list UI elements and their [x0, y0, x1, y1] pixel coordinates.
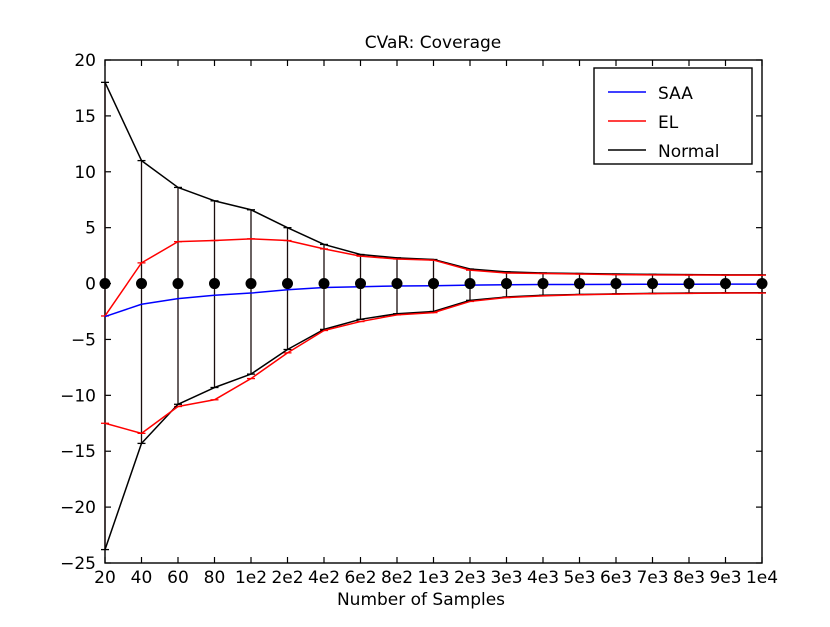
x-tick-label: 1e4 [746, 568, 778, 588]
x-tick-label: 7e3 [636, 568, 668, 588]
legend-label-saa: SAA [658, 84, 693, 104]
data-point-marker [720, 278, 731, 289]
y-tick-label: 5 [85, 219, 96, 239]
x-tick-label: 8e2 [381, 568, 413, 588]
y-tick-label: −5 [71, 330, 96, 350]
data-point-marker [355, 278, 366, 289]
normal-lower-curve [105, 293, 762, 550]
y-tick-label: 0 [85, 275, 96, 295]
x-tick-label: 60 [167, 568, 189, 588]
x-tick-label: 5e3 [563, 568, 595, 588]
x-tick-label: 1e2 [235, 568, 267, 588]
data-point-marker [428, 278, 439, 289]
x-axis-label: Number of Samples [337, 590, 505, 610]
data-point-marker [136, 278, 147, 289]
y-tick-label: −25 [60, 554, 96, 574]
x-tick-label: 4e2 [308, 568, 340, 588]
x-tick-label: 2e2 [271, 568, 303, 588]
data-point-marker [392, 278, 403, 289]
data-point-marker [282, 278, 293, 289]
y-tick-label: −10 [60, 386, 96, 406]
x-tick-label: 40 [131, 568, 153, 588]
x-tick-label: 2e3 [454, 568, 486, 588]
legend-label-el: EL [658, 113, 679, 133]
x-tick-label: 3e3 [490, 568, 522, 588]
x-tick-label: 20 [94, 568, 116, 588]
y-tick-label: 10 [74, 163, 96, 183]
x-tick-label: 6e3 [600, 568, 632, 588]
data-point-marker [246, 278, 257, 289]
y-tick-label: −15 [60, 442, 96, 462]
cvar-coverage-chart: CVaR: Coverage 20151050−5−10−15−20−25 20… [0, 0, 830, 627]
legend[interactable]: SAAELNormal [594, 68, 752, 164]
y-tick-label: 20 [74, 51, 96, 71]
data-point-marker [501, 278, 512, 289]
data-point-marker [647, 278, 658, 289]
data-point-marker [465, 278, 476, 289]
data-point-marker [757, 278, 768, 289]
figure-canvas: CVaR: Coverage 20151050−5−10−15−20−25 20… [0, 0, 830, 627]
x-tick-label: 6e2 [344, 568, 376, 588]
data-point-marker [209, 278, 220, 289]
y-tick-label: 15 [74, 107, 96, 127]
data-point-marker [538, 278, 549, 289]
data-point-marker [173, 278, 184, 289]
el-lower-curve [105, 293, 762, 433]
y-tick-label: −20 [60, 498, 96, 518]
data-point-marker [319, 278, 330, 289]
legend-label-normal: Normal [658, 142, 720, 162]
x-tick-label: 8e3 [673, 568, 705, 588]
data-point-marker [100, 278, 111, 289]
data-point-marker [684, 278, 695, 289]
data-point-marker [574, 278, 585, 289]
x-tick-label: 4e3 [527, 568, 559, 588]
data-point-marker [611, 278, 622, 289]
x-tick-label: 9e3 [709, 568, 741, 588]
chart-title: CVaR: Coverage [365, 33, 501, 53]
x-tick-label: 80 [204, 568, 226, 588]
x-tick-label: 1e3 [417, 568, 449, 588]
